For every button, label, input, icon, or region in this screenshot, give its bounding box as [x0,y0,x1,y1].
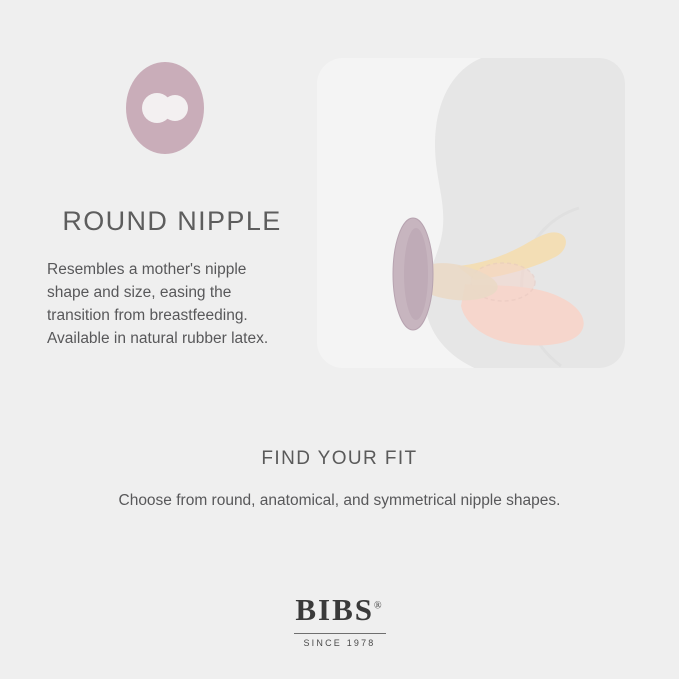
logo-registered-mark: ® [374,601,384,612]
feature-description: Resembles a mother's nipple shape and si… [47,259,292,351]
logo-wordmark: BIBS® [295,592,383,628]
left-panel: ROUND NIPPLE Resembles a mother's nipple… [47,62,297,351]
illustration-card [317,58,625,368]
product-feature-card: ROUND NIPPLE Resembles a mother's nipple… [0,0,679,679]
logo-divider [294,633,386,634]
round-nipple-icon [126,62,204,154]
glyph-bar [154,102,180,114]
brand-logo: BIBS® SINCE 1978 [0,592,679,648]
find-your-fit-subtitle: Choose from round, anatomical, and symme… [0,492,679,510]
baby-profile-illustration [317,58,625,368]
logo-text: BIBS [295,592,374,627]
round-nipple-glyph [142,93,188,123]
pacifier-shield-inner [404,228,428,320]
page-title: ROUND NIPPLE [47,206,297,237]
find-your-fit-title: FIND YOUR FIT [0,448,679,470]
logo-tagline: SINCE 1978 [0,638,679,648]
